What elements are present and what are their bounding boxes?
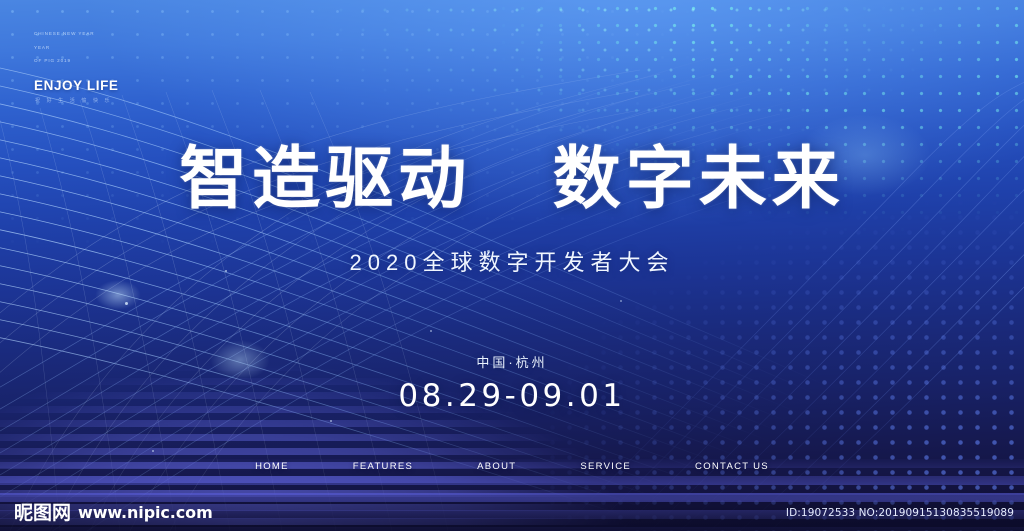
nipic-url-text: www.nipic.com (78, 505, 213, 521)
asset-id-text: ID:19072533 NO:20190915130835519089 (786, 507, 1014, 519)
nipic-logo: 昵图网 (14, 504, 71, 523)
speck (620, 300, 622, 302)
nav-item-features[interactable]: FEATURES (353, 461, 413, 472)
corner-headline: ENJOY LIFE (34, 78, 119, 93)
corner-tiny-line-2: YEAR (34, 41, 95, 55)
corner-tiny-line-3: OF PIG 2019 (34, 54, 95, 68)
speck (125, 302, 128, 305)
event-location: 中国·杭州 (0, 352, 1024, 371)
corner-decorative-text: CHINESE NEW YEAR YEAR OF PIG 2019 (34, 27, 95, 68)
speck (152, 450, 154, 452)
light-glow (95, 280, 141, 310)
page-title-part-2: 数字未来 (553, 140, 845, 219)
event-date: 08.29-09.01 (0, 378, 1024, 414)
nav-bar: HOME FEATURES ABOUT SERVICE CONTACT US (0, 461, 1024, 472)
nav-item-service[interactable]: SERVICE (580, 461, 631, 472)
watermark-brand: 昵图网 www.nipic.com (14, 504, 213, 523)
page-title: 智造驱动 数字未来 (0, 138, 1024, 222)
nav-item-about[interactable]: ABOUT (477, 461, 516, 472)
page-subtitle: 2020全球数字开发者大会 (0, 245, 1024, 277)
nav-item-contact-us[interactable]: CONTACT US (695, 461, 769, 472)
poster-canvas: CHINESE NEW YEAR YEAR OF PIG 2019 ENJOY … (0, 0, 1024, 531)
speck (430, 330, 432, 332)
page-title-part-1: 智造驱动 (179, 140, 471, 219)
watermark-bar: 昵图网 www.nipic.com ID:19072533 NO:2019091… (0, 495, 1024, 531)
corner-headline-sub: 祝 好 生 活 愉 快 乐 (35, 97, 112, 104)
corner-tiny-line-1: CHINESE NEW YEAR (34, 27, 95, 41)
speck (330, 420, 332, 422)
nav-item-home[interactable]: HOME (255, 461, 289, 472)
